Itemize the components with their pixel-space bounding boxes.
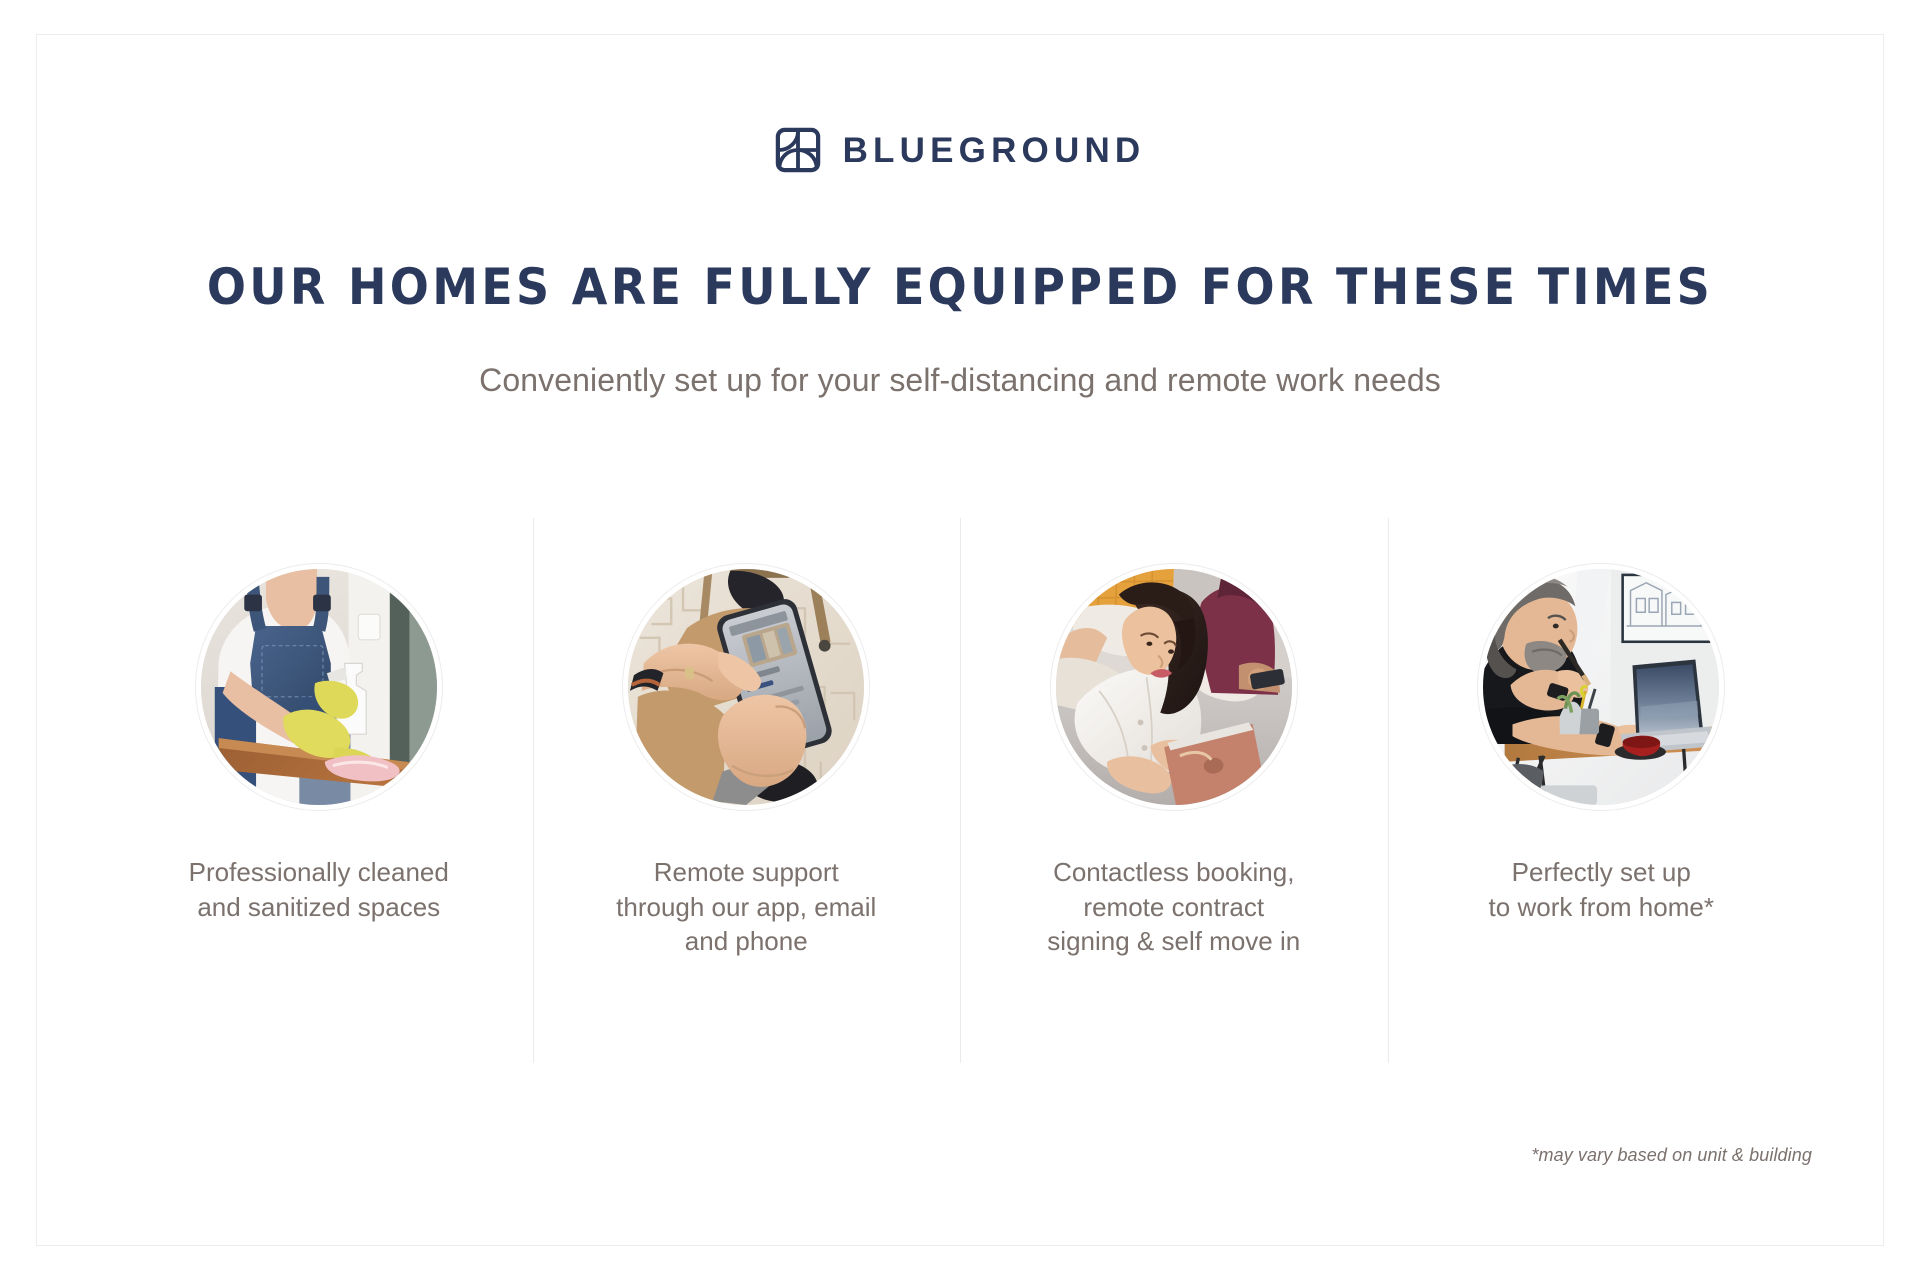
work-from-home-photo xyxy=(1483,569,1719,805)
feature-photo-ring xyxy=(1050,563,1298,811)
feature-caption: Perfectly set up to work from home* xyxy=(1489,855,1714,924)
page-subtitle: Conveniently set up for your self-distan… xyxy=(0,360,1920,400)
cleaning-photo xyxy=(201,569,437,805)
brand-lockup: BLUEGROUND xyxy=(0,127,1920,173)
feature-caption: Contactless booking, remote contract sig… xyxy=(1047,855,1300,959)
page-title: OUR HOMES ARE FULLY EQUIPPED FOR THESE T… xyxy=(77,262,1843,312)
feature-item-contactless-booking: Contactless booking, remote contract sig… xyxy=(960,518,1388,959)
blueground-logo-icon xyxy=(775,127,821,173)
footnote-disclaimer: *may vary based on unit & building xyxy=(1531,1145,1812,1166)
feature-item-remote-support: Remote support through our app, email an… xyxy=(533,518,961,959)
contactless-booking-photo xyxy=(1056,569,1292,805)
promo-page: BLUEGROUND OUR HOMES ARE FULLY EQUIPPED … xyxy=(0,0,1920,1280)
feature-item-work-from-home: Perfectly set up to work from home* xyxy=(1388,518,1816,924)
brand-wordmark: BLUEGROUND xyxy=(843,133,1146,168)
feature-item-cleaning: Professionally cleaned and sanitized spa… xyxy=(105,518,533,924)
feature-caption: Professionally cleaned and sanitized spa… xyxy=(189,855,449,924)
feature-columns: Professionally cleaned and sanitized spa… xyxy=(105,518,1815,1063)
remote-support-photo xyxy=(628,569,864,805)
feature-photo-ring xyxy=(1477,563,1725,811)
feature-photo-ring xyxy=(622,563,870,811)
feature-photo-ring xyxy=(195,563,443,811)
feature-caption: Remote support through our app, email an… xyxy=(616,855,876,959)
